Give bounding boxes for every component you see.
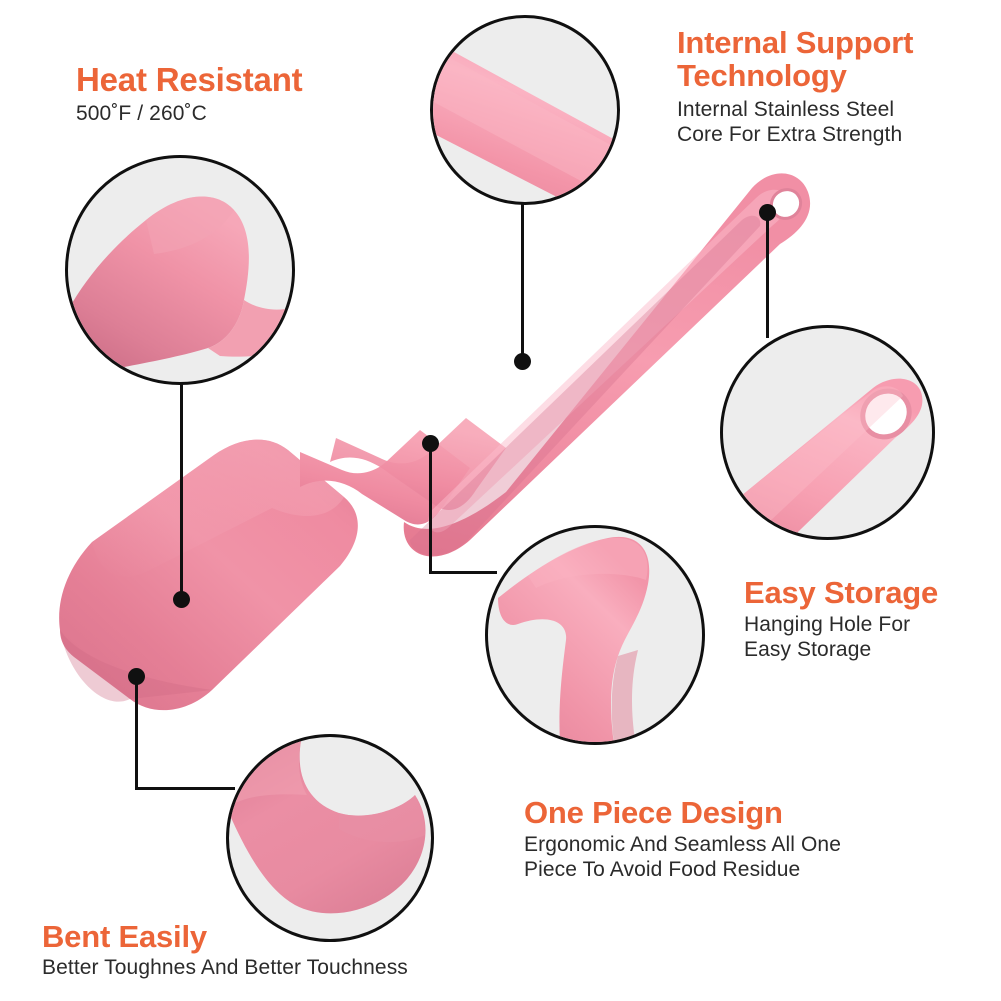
- callout-title-heat-resistant: Heat Resistant: [76, 62, 406, 98]
- leader-line-easy-storage: [766, 214, 769, 338]
- callout-subtitle-heat-resistant: 500˚F / 260˚C: [76, 102, 406, 127]
- callout-one-piece-design: One Piece Design Ergonomic And Seamless …: [524, 796, 854, 883]
- callout-bent-easily: Bent Easily Better Toughnes And Better T…: [42, 920, 462, 981]
- callout-title-easy-storage: Easy Storage: [744, 576, 994, 609]
- leader-line-internal-support: [521, 200, 524, 365]
- callout-title-bent-easily: Bent Easily: [42, 920, 462, 953]
- magnifier-blade-edge: [65, 155, 295, 385]
- leader-line-heat-resistant: [180, 384, 183, 602]
- leader-line-one-piece-vertical: [429, 445, 432, 574]
- callout-subtitle-easy-storage: Hanging Hole For Easy Storage: [744, 613, 994, 663]
- callout-title-internal-support: Internal Support Technology: [677, 26, 997, 93]
- leader-dot-one-piece: [422, 435, 439, 452]
- callout-easy-storage: Easy Storage Hanging Hole For Easy Stora…: [744, 576, 994, 663]
- product-infographic: Heat Resistant 500˚F / 260˚C Internal Su…: [0, 0, 1001, 1001]
- leader-dot-easy-storage: [759, 204, 776, 221]
- hanging-hole-zoom-art: [723, 328, 935, 540]
- leader-dot-heat-resistant: [173, 591, 190, 608]
- leader-dot-bent-easily: [128, 668, 145, 685]
- magnifier-handle-shaft: [430, 15, 620, 205]
- blade-edge-zoom-art: [68, 158, 295, 385]
- leader-line-one-piece-horizontal: [429, 571, 497, 574]
- leader-line-bent-easily-vertical: [135, 680, 138, 790]
- leader-line-bent-easily-horizontal: [135, 787, 235, 790]
- callout-title-one-piece-design: One Piece Design: [524, 796, 854, 829]
- leader-dot-internal-support: [514, 353, 531, 370]
- callout-subtitle-one-piece-design: Ergonomic And Seamless All One Piece To …: [524, 833, 854, 883]
- callout-subtitle-bent-easily: Better Toughnes And Better Touchness: [42, 956, 462, 981]
- callout-heat-resistant: Heat Resistant 500˚F / 260˚C: [76, 62, 406, 126]
- magnifier-blade-flex: [226, 734, 434, 942]
- handle-shadow: [410, 216, 760, 556]
- magnifier-hanging-hole: [720, 325, 935, 540]
- blade-flex-zoom-art: [229, 737, 434, 942]
- handle-shaft-zoom-art: [433, 18, 620, 205]
- magnifier-neck-joint: [485, 525, 705, 745]
- callout-subtitle-internal-support: Internal Stainless Steel Core For Extra …: [677, 98, 997, 148]
- neck-joint-zoom-art: [488, 528, 705, 745]
- callout-internal-support: Internal Support Technology Internal Sta…: [677, 26, 997, 147]
